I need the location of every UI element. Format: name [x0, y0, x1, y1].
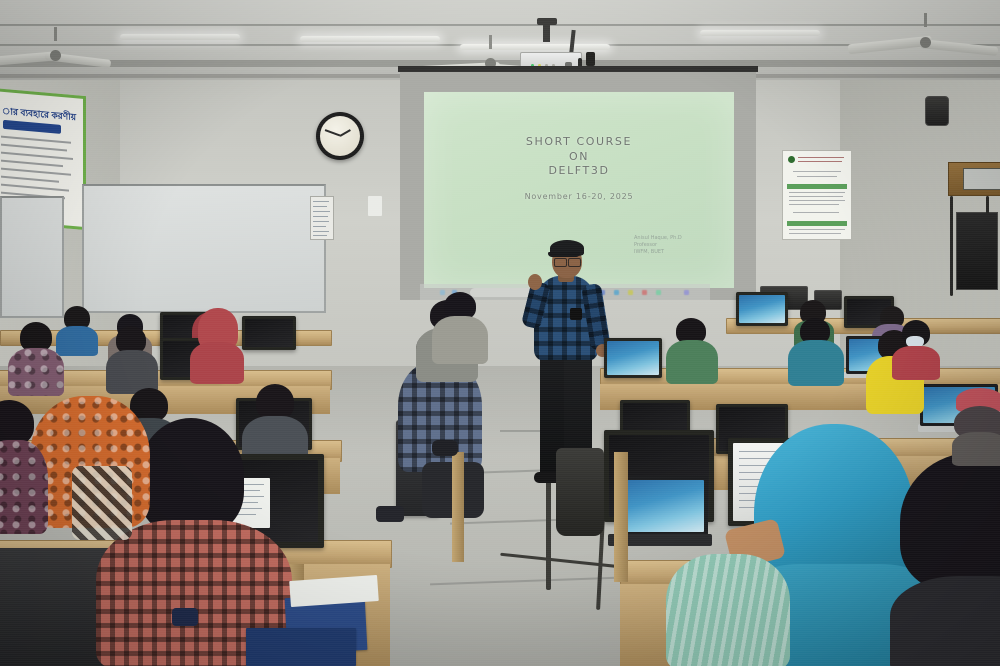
- student-top-striped: [666, 554, 790, 666]
- presenter-glasses: [554, 258, 567, 267]
- slide-title-line3: DELFT3D: [424, 164, 734, 177]
- student-masked: [892, 320, 942, 376]
- whiteboard-left-panel: [0, 196, 64, 318]
- university-logo: [788, 156, 795, 163]
- taskbar-app-icon[interactable]: [642, 290, 647, 295]
- wall-cabinet: [948, 162, 1000, 196]
- slide-title-line2: ON: [424, 150, 734, 163]
- monitor: [736, 292, 788, 326]
- slide-credit: Anisul Haque, Ph.D Professor IWFM, BUET: [634, 235, 729, 256]
- slide-credit-role: Professor: [634, 242, 729, 249]
- ceiling-fan: [0, 40, 110, 70]
- attendance-log-sheet: [310, 196, 334, 240]
- slide-credit-name: Anisul Haque, Ph.D: [634, 235, 729, 242]
- slide-credit-affiliation: IWFM, BUET: [634, 249, 729, 256]
- student-pink-hijab: [190, 308, 246, 378]
- presenter-glasses: [568, 258, 581, 267]
- wall-note: [368, 196, 382, 216]
- student-row-grey: [432, 292, 490, 362]
- notice-section-header: [787, 184, 847, 189]
- whiteboard: [82, 184, 326, 313]
- notebook: [246, 628, 356, 666]
- student-row2-left: [106, 326, 160, 390]
- tube-light: [300, 36, 440, 42]
- wall-clock: [316, 112, 364, 160]
- taskbar-app-icon[interactable]: [628, 290, 633, 295]
- backpack: [556, 448, 604, 536]
- floor-cable: [546, 480, 551, 590]
- slide-title-line1: SHORT COURSE: [424, 135, 734, 148]
- classroom-photo: SHORT COURSE ON DELFT3D November 16-20, …: [0, 0, 1000, 666]
- student-green-stripe: [666, 520, 806, 666]
- student-row2-far-left: [8, 322, 66, 392]
- student-far-left-dark: [0, 400, 50, 530]
- desk-leg: [452, 452, 464, 562]
- cap-brim-icon: [548, 252, 580, 257]
- tube-light: [120, 34, 240, 40]
- wall-speaker: [925, 96, 949, 126]
- student-teal-shirt: [788, 318, 846, 384]
- presenter-hand: [528, 274, 542, 290]
- notice-section-header: [787, 221, 847, 226]
- electrical-panel: [956, 212, 998, 290]
- student-green-shirt: [666, 318, 720, 382]
- taskbar-app-icon[interactable]: [684, 290, 689, 295]
- tube-light: [700, 30, 820, 36]
- taskbar-app-icon[interactable]: [656, 290, 661, 295]
- student-red-cap: [952, 388, 1000, 460]
- desk-leg: [614, 452, 628, 582]
- notice-board: [782, 150, 852, 240]
- student-foreground-right-dark: [900, 452, 1000, 666]
- monitor: [242, 316, 296, 350]
- ceiling-fan: [860, 26, 990, 58]
- monitor: [604, 338, 662, 378]
- student-hair: [900, 452, 1000, 592]
- slide-date: November 16-20, 2025: [424, 192, 734, 201]
